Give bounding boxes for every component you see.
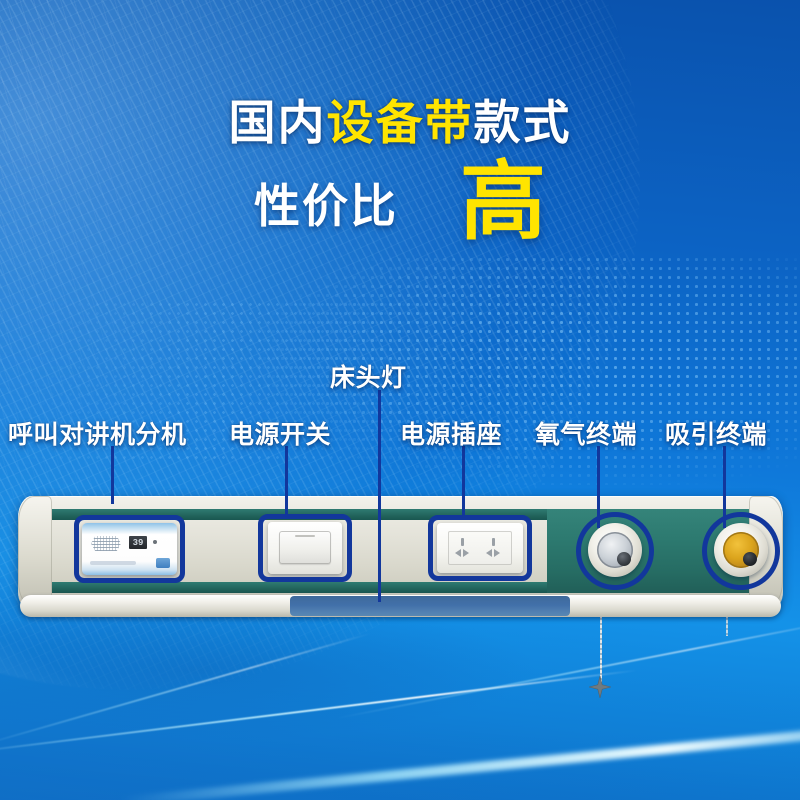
leader-line-oxygen-terminal xyxy=(597,446,600,528)
suction-terminal-port xyxy=(743,552,757,566)
headline-line2-text: 性价比 xyxy=(254,170,398,236)
headline-line1-part1: 国内 xyxy=(229,96,327,149)
oxygen-terminal[interactable] xyxy=(588,523,642,577)
speaker-grille-icon xyxy=(91,536,121,551)
leader-line-intercom xyxy=(111,446,114,504)
intercom-display: 39 xyxy=(129,536,147,549)
intercom-indicator-led xyxy=(153,540,157,544)
leader-line-bed-lamp xyxy=(378,390,381,602)
socket-pin-a3 xyxy=(463,549,469,557)
socket-pin-b1 xyxy=(492,538,495,546)
power-switch[interactable] xyxy=(268,522,342,574)
label-intercom: 呼叫对讲机分机 xyxy=(8,415,187,451)
headline-line-1: 国内设备带款式 xyxy=(0,84,800,153)
socket-pin-a1 xyxy=(461,538,464,546)
headline-block: 国内设备带款式 性价比 高 xyxy=(0,84,800,153)
intercom-label-strip xyxy=(90,561,136,565)
socket-pin-b3 xyxy=(494,549,500,557)
socket-pin-b2 xyxy=(486,549,492,557)
socket-face xyxy=(448,531,512,565)
leader-line-suction-terminal xyxy=(723,446,726,528)
socket-pin-a2 xyxy=(455,549,461,557)
label-oxygen-terminal: 氧气终端 xyxy=(535,415,637,451)
leader-line-power-socket xyxy=(462,446,465,518)
headline-line1-part2: 款式 xyxy=(474,96,572,149)
promo-banner: 国内设备带款式 性价比 高 呼叫对讲机分机 电源开关 床头灯 电源插座 氧气终端… xyxy=(0,0,800,800)
rocker-paddle[interactable] xyxy=(279,531,331,564)
oxygen-terminal-port xyxy=(617,552,631,566)
pull-cord-hook-icon xyxy=(589,676,611,698)
nurse-call-intercom[interactable]: 39 xyxy=(82,523,177,575)
headline-emphasis-char: 高 xyxy=(460,162,546,244)
leader-line-power-switch xyxy=(285,446,288,518)
panel-rail-glass-insert xyxy=(290,596,570,616)
suction-terminal-ring xyxy=(723,532,759,568)
label-power-switch: 电源开关 xyxy=(229,415,331,451)
panel-end-cap-left xyxy=(18,496,52,608)
label-power-socket: 电源插座 xyxy=(400,415,502,451)
intercom-call-button[interactable] xyxy=(156,558,170,568)
headline-line-2: 性价比 高 xyxy=(0,162,800,244)
suction-terminal[interactable] xyxy=(714,523,768,577)
power-socket[interactable] xyxy=(437,523,523,573)
medical-bed-head-unit: 39 xyxy=(18,496,783,636)
label-bed-lamp: 床头灯 xyxy=(330,358,407,394)
headline-line1-highlight: 设备带 xyxy=(327,96,474,149)
label-suction-terminal: 吸引终端 xyxy=(665,415,767,451)
oxygen-terminal-ring xyxy=(597,532,633,568)
